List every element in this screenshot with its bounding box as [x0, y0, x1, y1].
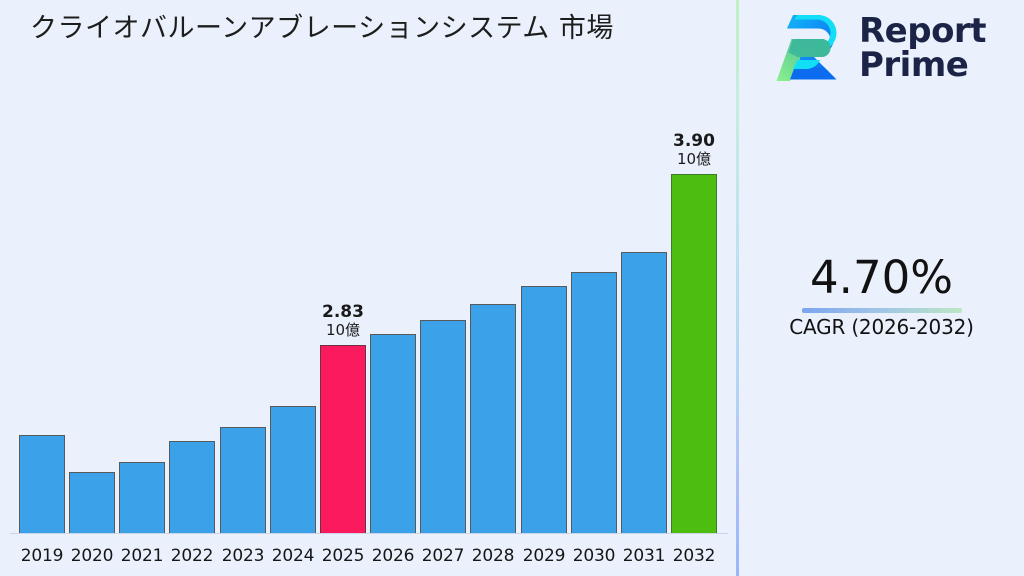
page-title: クライオバルーンアブレーションシステム 市場 [30, 8, 630, 49]
x-tick-2029: 2029 [519, 546, 569, 566]
cagr-caption: CAGR (2026-2032) [739, 315, 1024, 339]
x-tick-2027: 2027 [418, 546, 468, 566]
bar-column-2026[interactable] [368, 334, 418, 533]
bar-2029[interactable] [521, 286, 567, 533]
x-tick-2022: 2022 [167, 546, 217, 566]
report-prime-logo[interactable]: Report Prime [775, 10, 986, 86]
logo-mark-icon [775, 10, 847, 86]
bar-column-2024[interactable] [268, 406, 318, 533]
bar-column-2019[interactable] [17, 435, 67, 533]
x-tick-2020: 2020 [67, 546, 117, 566]
x-tick-2023: 2023 [218, 546, 268, 566]
bar-column-2021[interactable] [117, 462, 167, 533]
x-tick-2025: 2025 [318, 546, 368, 566]
bar-2025[interactable] [320, 345, 366, 533]
bar-column-2022[interactable] [167, 441, 217, 533]
x-tick-2024: 2024 [268, 546, 318, 566]
x-tick-2021: 2021 [117, 546, 167, 566]
logo-wordmark: Report Prime [859, 14, 986, 82]
x-tick-2031: 2031 [619, 546, 669, 566]
plot-area: 2.8310億3.9010億 [17, 110, 719, 533]
cagr-value: 4.70% [739, 252, 1024, 304]
bar-column-2029[interactable] [519, 286, 569, 533]
bar-column-2027[interactable] [418, 320, 468, 533]
bar-column-2028[interactable] [468, 304, 518, 533]
bar-column-2023[interactable] [218, 427, 268, 533]
bar-2022[interactable] [169, 441, 215, 533]
cagr-divider-rule [802, 308, 962, 313]
x-tick-2032: 2032 [669, 546, 719, 566]
bar-2030[interactable] [571, 272, 617, 533]
x-axis: 2019202020212022202320242025202620272028… [17, 546, 719, 574]
axis-baseline [10, 533, 728, 534]
bar-value-2025: 2.83 [283, 303, 403, 322]
x-tick-2026: 2026 [368, 546, 418, 566]
bar-2019[interactable] [19, 435, 65, 533]
x-tick-2028: 2028 [468, 546, 518, 566]
bar-2028[interactable] [470, 304, 516, 533]
x-tick-2019: 2019 [17, 546, 67, 566]
bar-2026[interactable] [370, 334, 416, 533]
bar-chart: 2.8310億3.9010億 2019202020212022202320242… [0, 110, 737, 576]
bar-column-2020[interactable] [67, 472, 117, 533]
bar-column-2025[interactable]: 2.8310億 [318, 345, 368, 533]
bar-column-2030[interactable] [569, 272, 619, 533]
chart-panel: クライオバルーンアブレーションシステム 市場 2.8310億3.9010億 20… [0, 0, 737, 576]
cagr-block: 4.70% CAGR (2026-2032) [739, 252, 1024, 339]
bar-2021[interactable] [119, 462, 165, 533]
brand-panel: Report Prime 4.70% CAGR (2026-2032) [739, 0, 1024, 576]
bar-2024[interactable] [270, 406, 316, 533]
x-tick-2030: 2030 [569, 546, 619, 566]
bar-2031[interactable] [621, 252, 667, 533]
bar-2020[interactable] [69, 472, 115, 533]
bar-2027[interactable] [420, 320, 466, 533]
logo-line-2: Prime [859, 48, 986, 82]
bar-column-2032[interactable]: 3.9010億 [669, 174, 719, 533]
bar-column-2031[interactable] [619, 252, 669, 533]
logo-line-1: Report [859, 14, 986, 48]
bar-2032[interactable] [671, 174, 717, 533]
slide-canvas: クライオバルーンアブレーションシステム 市場 2.8310億3.9010億 20… [0, 0, 1024, 576]
bar-2023[interactable] [220, 427, 266, 533]
